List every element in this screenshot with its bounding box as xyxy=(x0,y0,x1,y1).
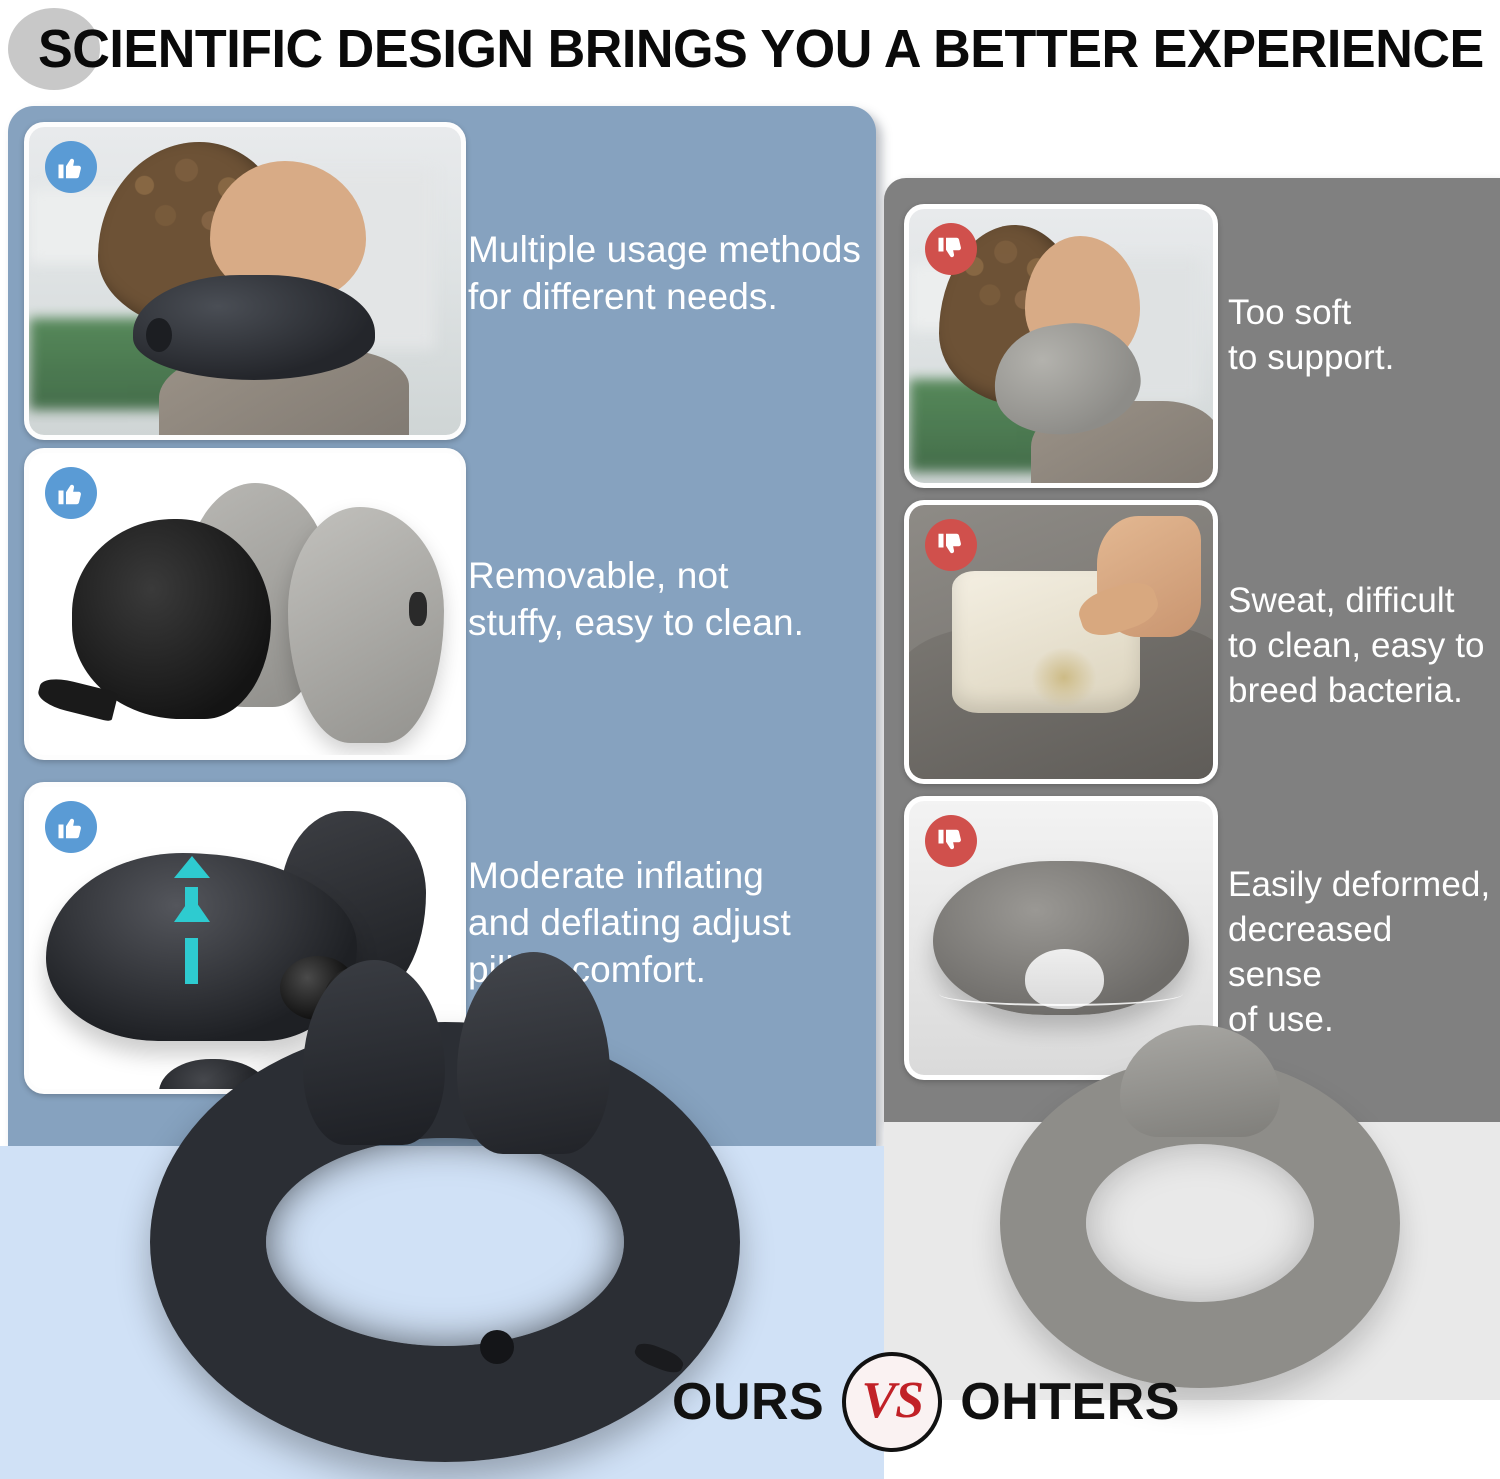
inflate-arrow-upper xyxy=(174,856,210,878)
ours-caption-1: Multiple usage methods for different nee… xyxy=(468,226,868,320)
page-title-bar: SCIENTIFIC DESIGN BRINGS YOU A BETTER EX… xyxy=(0,0,1500,96)
vs-text: VS xyxy=(861,1371,923,1430)
ours-hero-pillow xyxy=(150,1022,740,1462)
page-title: SCIENTIFIC DESIGN BRINGS YOU A BETTER EX… xyxy=(38,6,1442,92)
inflate-arrow-stem-upper xyxy=(185,887,198,909)
ours-label: OURS xyxy=(672,1372,824,1432)
others-card-1 xyxy=(904,204,1218,488)
thumbs-up-icon xyxy=(45,801,97,853)
thumbs-up-icon xyxy=(45,141,97,193)
thumbs-down-icon xyxy=(925,815,977,867)
infographic-page: SCIENTIFIC DESIGN BRINGS YOU A BETTER EX… xyxy=(0,0,1500,1479)
vs-badge: VS xyxy=(842,1352,942,1452)
ours-caption-2: Removable, not stuffy, easy to clean. xyxy=(468,552,868,646)
others-card-2 xyxy=(904,500,1218,784)
others-caption-3: Easily deformed, decreased sense of use. xyxy=(1228,862,1496,1042)
versus-row: OURS VS OHTERS xyxy=(672,1352,1180,1452)
inflate-arrow-stem-lower xyxy=(185,938,198,984)
others-caption-1: Too soft to support. xyxy=(1228,290,1496,380)
ours-card-2 xyxy=(24,448,466,760)
thumbs-down-icon xyxy=(925,223,977,275)
others-caption-2: Sweat, difficult to clean, easy to breed… xyxy=(1228,578,1496,713)
thumbs-down-icon xyxy=(925,519,977,571)
others-label: OHTERS xyxy=(960,1372,1180,1432)
ours-card-1 xyxy=(24,122,466,440)
others-hero-pillow xyxy=(1000,1058,1400,1388)
thumbs-up-icon xyxy=(45,467,97,519)
